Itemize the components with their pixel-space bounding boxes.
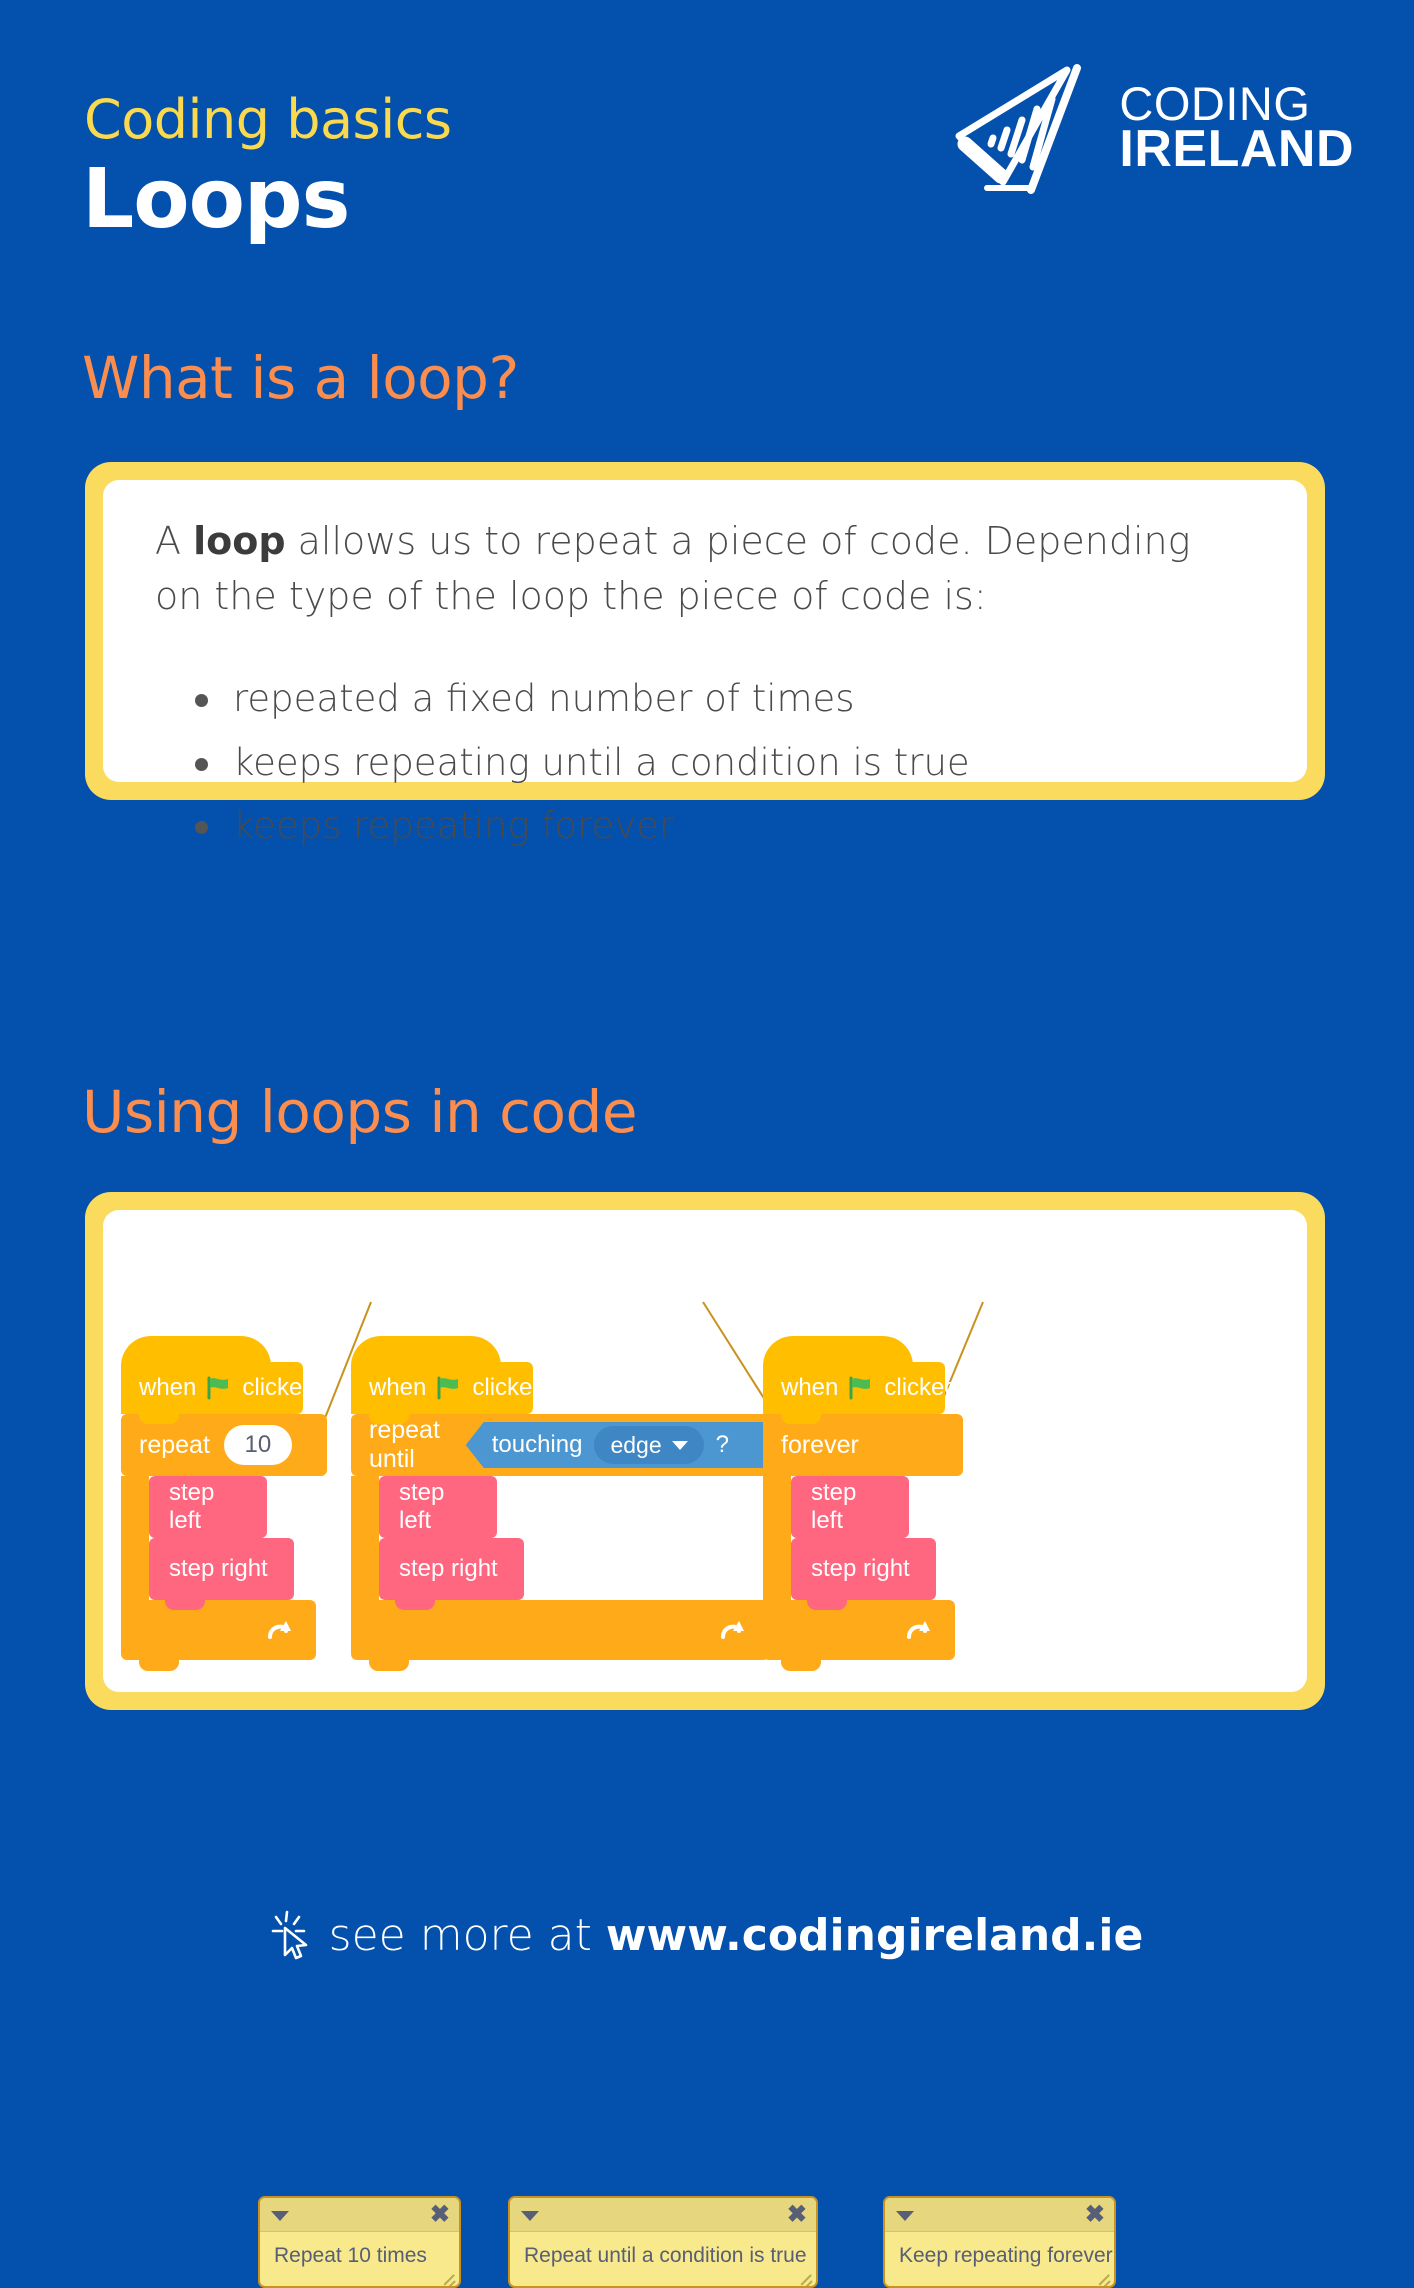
close-icon[interactable]: ✖ bbox=[787, 2201, 807, 2229]
hat-connector bbox=[139, 1413, 179, 1424]
forever-inner-stack: step left step right bbox=[791, 1476, 936, 1600]
block-step-left[interactable]: step left bbox=[149, 1476, 267, 1538]
resize-grip-icon[interactable] bbox=[797, 2268, 813, 2284]
block-connector bbox=[165, 1599, 205, 1610]
scratch-comment-repeat-10[interactable]: ✖ Repeat 10 times bbox=[258, 2196, 461, 2288]
hat-label-before: when bbox=[139, 1374, 196, 1402]
comment-text: Keep repeating forever bbox=[885, 2232, 1114, 2268]
block-repeat-c[interactable]: repeat 10 step left step bbox=[121, 1414, 331, 1660]
block-connector bbox=[395, 1537, 435, 1548]
chevron-down-icon[interactable] bbox=[896, 2211, 914, 2221]
repeat-until-inner-stack: step left step right bbox=[379, 1476, 524, 1600]
block-step-left[interactable]: step left bbox=[379, 1476, 497, 1538]
c-block-foot bbox=[369, 1659, 409, 1671]
repeat-footer[interactable] bbox=[121, 1600, 316, 1660]
brand-wordmark: CODING IRELAND bbox=[1119, 82, 1354, 173]
definition-card: A loop allows us to repeat a piece of co… bbox=[85, 462, 1325, 800]
comment-text: Repeat 10 times bbox=[260, 2232, 459, 2268]
comment-titlebar[interactable]: ✖ bbox=[260, 2198, 459, 2232]
hat-label-before: when bbox=[369, 1374, 426, 1402]
megaphone-signal-icon bbox=[943, 58, 1093, 198]
repeat-inner-stack: step left step right bbox=[149, 1476, 294, 1600]
block-when-flag-clicked[interactable]: when clicked bbox=[763, 1362, 945, 1414]
green-flag-icon bbox=[848, 1376, 874, 1400]
list-item: keeps repeating until a condition is tru… bbox=[155, 736, 1245, 790]
definition-paragraph: A loop allows us to repeat a piece of co… bbox=[155, 514, 1245, 625]
hat-label-after: clicked bbox=[884, 1374, 957, 1402]
scratch-stack-repeat-10[interactable]: when clicked repeat 10 bbox=[121, 1362, 331, 1660]
hat-connector bbox=[781, 1413, 821, 1424]
loop-arrow-icon bbox=[903, 1615, 933, 1645]
footer-url[interactable]: www.codingireland.ie bbox=[606, 1910, 1143, 1961]
forever-footer[interactable] bbox=[763, 1600, 955, 1660]
block-label: step right bbox=[399, 1555, 498, 1583]
definition-lead-after: allows us to repeat a piece of code. Dep… bbox=[155, 519, 1190, 618]
block-connector bbox=[807, 1599, 847, 1610]
repeat-count-input[interactable]: 10 bbox=[224, 1425, 292, 1465]
block-when-flag-clicked[interactable]: when clicked bbox=[121, 1362, 303, 1414]
block-label: step left bbox=[399, 1479, 477, 1535]
block-label: step right bbox=[169, 1555, 268, 1583]
block-connector bbox=[165, 1537, 205, 1548]
definition-lead-bold: loop bbox=[193, 519, 285, 563]
scratch-comment-forever[interactable]: ✖ Keep repeating forever bbox=[883, 2196, 1116, 2288]
click-cursor-icon bbox=[271, 1909, 315, 1961]
code-examples-card-inner: ✖ Repeat 10 times ✖ Repeat until a condi… bbox=[103, 1210, 1307, 1692]
c-block-arm bbox=[121, 1476, 149, 1600]
page-kicker: Coding basics bbox=[84, 88, 452, 151]
comment-titlebar[interactable]: ✖ bbox=[510, 2198, 816, 2232]
condition-label: touching bbox=[492, 1431, 583, 1459]
block-connector bbox=[395, 1599, 435, 1610]
hat-connector bbox=[369, 1413, 409, 1424]
hat-label-before: when bbox=[781, 1374, 838, 1402]
loop-arrow-icon bbox=[717, 1615, 747, 1645]
hat-label-after: clicked bbox=[472, 1374, 545, 1402]
scratch-canvas: ✖ Repeat 10 times ✖ Repeat until a condi… bbox=[103, 1210, 1307, 1692]
block-step-left[interactable]: step left bbox=[791, 1476, 909, 1538]
footer-text: see more at www.codingireland.ie bbox=[329, 1910, 1144, 1961]
repeat-body: step left step right bbox=[121, 1476, 331, 1600]
c-block-arm bbox=[351, 1476, 379, 1600]
chevron-down-icon[interactable] bbox=[271, 2211, 289, 2221]
c-block-foot bbox=[139, 1659, 179, 1671]
dropdown-value: edge bbox=[610, 1432, 661, 1459]
definition-bullet-list: repeated a fixed number of times keeps r… bbox=[155, 672, 1245, 863]
poster-header: Coding basics Loops CODING IRELAND bbox=[0, 0, 1414, 250]
close-icon[interactable]: ✖ bbox=[430, 2201, 450, 2229]
chevron-down-icon[interactable] bbox=[672, 1441, 688, 1450]
scratch-stack-repeat-until[interactable]: when clicked repeat until touching bbox=[351, 1362, 781, 1660]
block-connector bbox=[807, 1537, 847, 1548]
repeat-until-label: repeat until bbox=[369, 1416, 452, 1474]
block-when-flag-clicked[interactable]: when clicked bbox=[351, 1362, 533, 1414]
resize-grip-icon[interactable] bbox=[440, 2268, 456, 2284]
green-flag-icon bbox=[436, 1376, 462, 1400]
page-title: Loops bbox=[82, 152, 349, 247]
c-block-arm bbox=[763, 1476, 791, 1600]
repeat-label: repeat bbox=[139, 1431, 210, 1460]
list-item: repeated a fixed number of times bbox=[155, 672, 1245, 726]
footer-prefix: see more at bbox=[329, 1910, 606, 1961]
poster-footer: see more at www.codingireland.ie bbox=[0, 1880, 1414, 1990]
chevron-down-icon[interactable] bbox=[521, 2211, 539, 2221]
definition-lead-before: A bbox=[155, 519, 193, 563]
resize-grip-icon[interactable] bbox=[1095, 2268, 1111, 2284]
boolean-touching-edge[interactable]: touching edge ? bbox=[466, 1422, 763, 1468]
block-repeat-until-c[interactable]: repeat until touching edge ? bbox=[351, 1414, 781, 1660]
block-label: step right bbox=[811, 1555, 910, 1583]
repeat-until-body: step left step right bbox=[351, 1476, 781, 1600]
scratch-comment-repeat-until[interactable]: ✖ Repeat until a condition is true bbox=[508, 2196, 818, 2288]
forever-body: step left step right bbox=[763, 1476, 963, 1600]
section-heading-using-loops-in-code: Using loops in code bbox=[82, 1078, 637, 1146]
code-examples-card: ✖ Repeat 10 times ✖ Repeat until a condi… bbox=[85, 1192, 1325, 1710]
green-flag-icon bbox=[206, 1376, 232, 1400]
close-icon[interactable]: ✖ bbox=[1085, 2201, 1105, 2229]
condition-suffix: ? bbox=[716, 1431, 729, 1459]
section-heading-what-is-a-loop: What is a loop? bbox=[82, 344, 519, 412]
definition-card-inner: A loop allows us to repeat a piece of co… bbox=[103, 480, 1307, 782]
comment-titlebar[interactable]: ✖ bbox=[885, 2198, 1114, 2232]
list-item: keeps repeating forever bbox=[155, 799, 1245, 853]
block-label: step left bbox=[169, 1479, 247, 1535]
block-label: step left bbox=[811, 1479, 889, 1535]
poster-page: Coding basics Loops CODING IRELAND bbox=[0, 0, 1414, 2000]
block-forever-c[interactable]: forever step left step right bbox=[763, 1414, 963, 1660]
brand-lockup: CODING IRELAND bbox=[943, 58, 1354, 198]
hat-label-after: clicked bbox=[242, 1374, 315, 1402]
c-block-foot bbox=[781, 1659, 821, 1671]
forever-label: forever bbox=[781, 1431, 859, 1460]
comment-text: Repeat until a condition is true bbox=[510, 2232, 816, 2268]
condition-dropdown[interactable]: edge bbox=[594, 1426, 703, 1464]
brand-line-2: IRELAND bbox=[1119, 126, 1354, 174]
loop-arrow-icon bbox=[264, 1615, 294, 1645]
scratch-stack-forever[interactable]: when clicked forever bbox=[763, 1362, 963, 1660]
repeat-until-header[interactable]: repeat until touching edge ? bbox=[351, 1414, 781, 1476]
